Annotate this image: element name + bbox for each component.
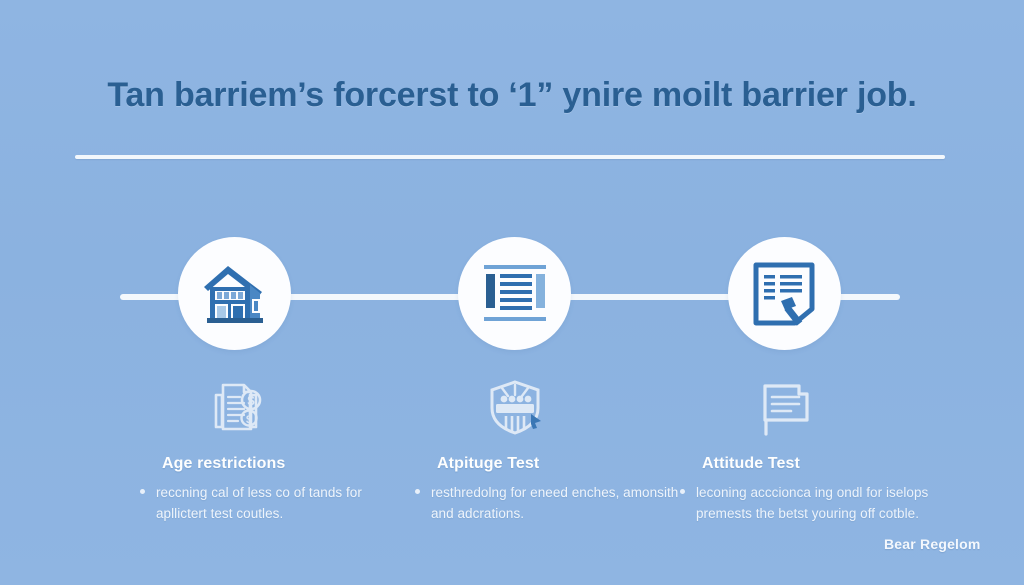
step-2-body-row: resthredolng for eneed enches, amonsith …: [415, 482, 685, 524]
svg-text:$: $: [246, 414, 252, 426]
step-3-body-row: leconing acccionca ing ondl for iselops …: [680, 482, 950, 524]
timeline-step-3-circle[interactable]: [728, 237, 841, 350]
shield-badge-emblem-icon: [484, 378, 546, 436]
invoice-dollar-document-icon: $ $: [204, 379, 266, 435]
timeline-step-2-circle[interactable]: [458, 237, 571, 350]
timeline-step-3-small-icon: [742, 376, 828, 438]
bullet-icon: [415, 489, 420, 494]
step-3-body: leconing acccionca ing ondl for iselops …: [696, 482, 950, 524]
page-title: Tan barriem’s forcerst to ‘1” ynire moil…: [0, 76, 1024, 115]
building-house-icon: [198, 261, 272, 327]
timeline-step-1-text: Age restrictions reccning cal of less co…: [140, 455, 410, 524]
timeline-step-3-text: Attitude Test leconing acccionca ing ond…: [680, 455, 950, 524]
bullet-icon: [140, 489, 145, 494]
svg-text:$: $: [247, 393, 255, 408]
document-checklist-pen-icon: [751, 261, 819, 327]
infographic-canvas: Tan barriem’s forcerst to ‘1” ynire moil…: [0, 0, 1024, 585]
footer-watermark: Bear Regelom: [884, 536, 981, 552]
timeline-step-2-small-icon: [472, 376, 558, 438]
step-1-body: reccning cal of less co of tands for apl…: [156, 482, 410, 524]
title-divider: [75, 155, 945, 159]
timeline-step-1-small-icon: $ $: [192, 376, 278, 438]
step-3-heading: Attitude Test: [702, 455, 950, 473]
step-2-heading: Atpituge Test: [437, 455, 685, 473]
step-1-heading: Age restrictions: [162, 455, 410, 473]
step-2-body: resthredolng for eneed enches, amonsith …: [431, 482, 685, 524]
timeline-step-2-text: Atpituge Test resthredolng for eneed enc…: [415, 455, 685, 524]
bullet-icon: [680, 489, 685, 494]
document-lines-test-paper-icon: [480, 263, 550, 325]
timeline-step-1-circle[interactable]: [178, 237, 291, 350]
flag-banner-document-icon: [755, 378, 815, 436]
step-1-body-row: reccning cal of less co of tands for apl…: [140, 482, 410, 524]
